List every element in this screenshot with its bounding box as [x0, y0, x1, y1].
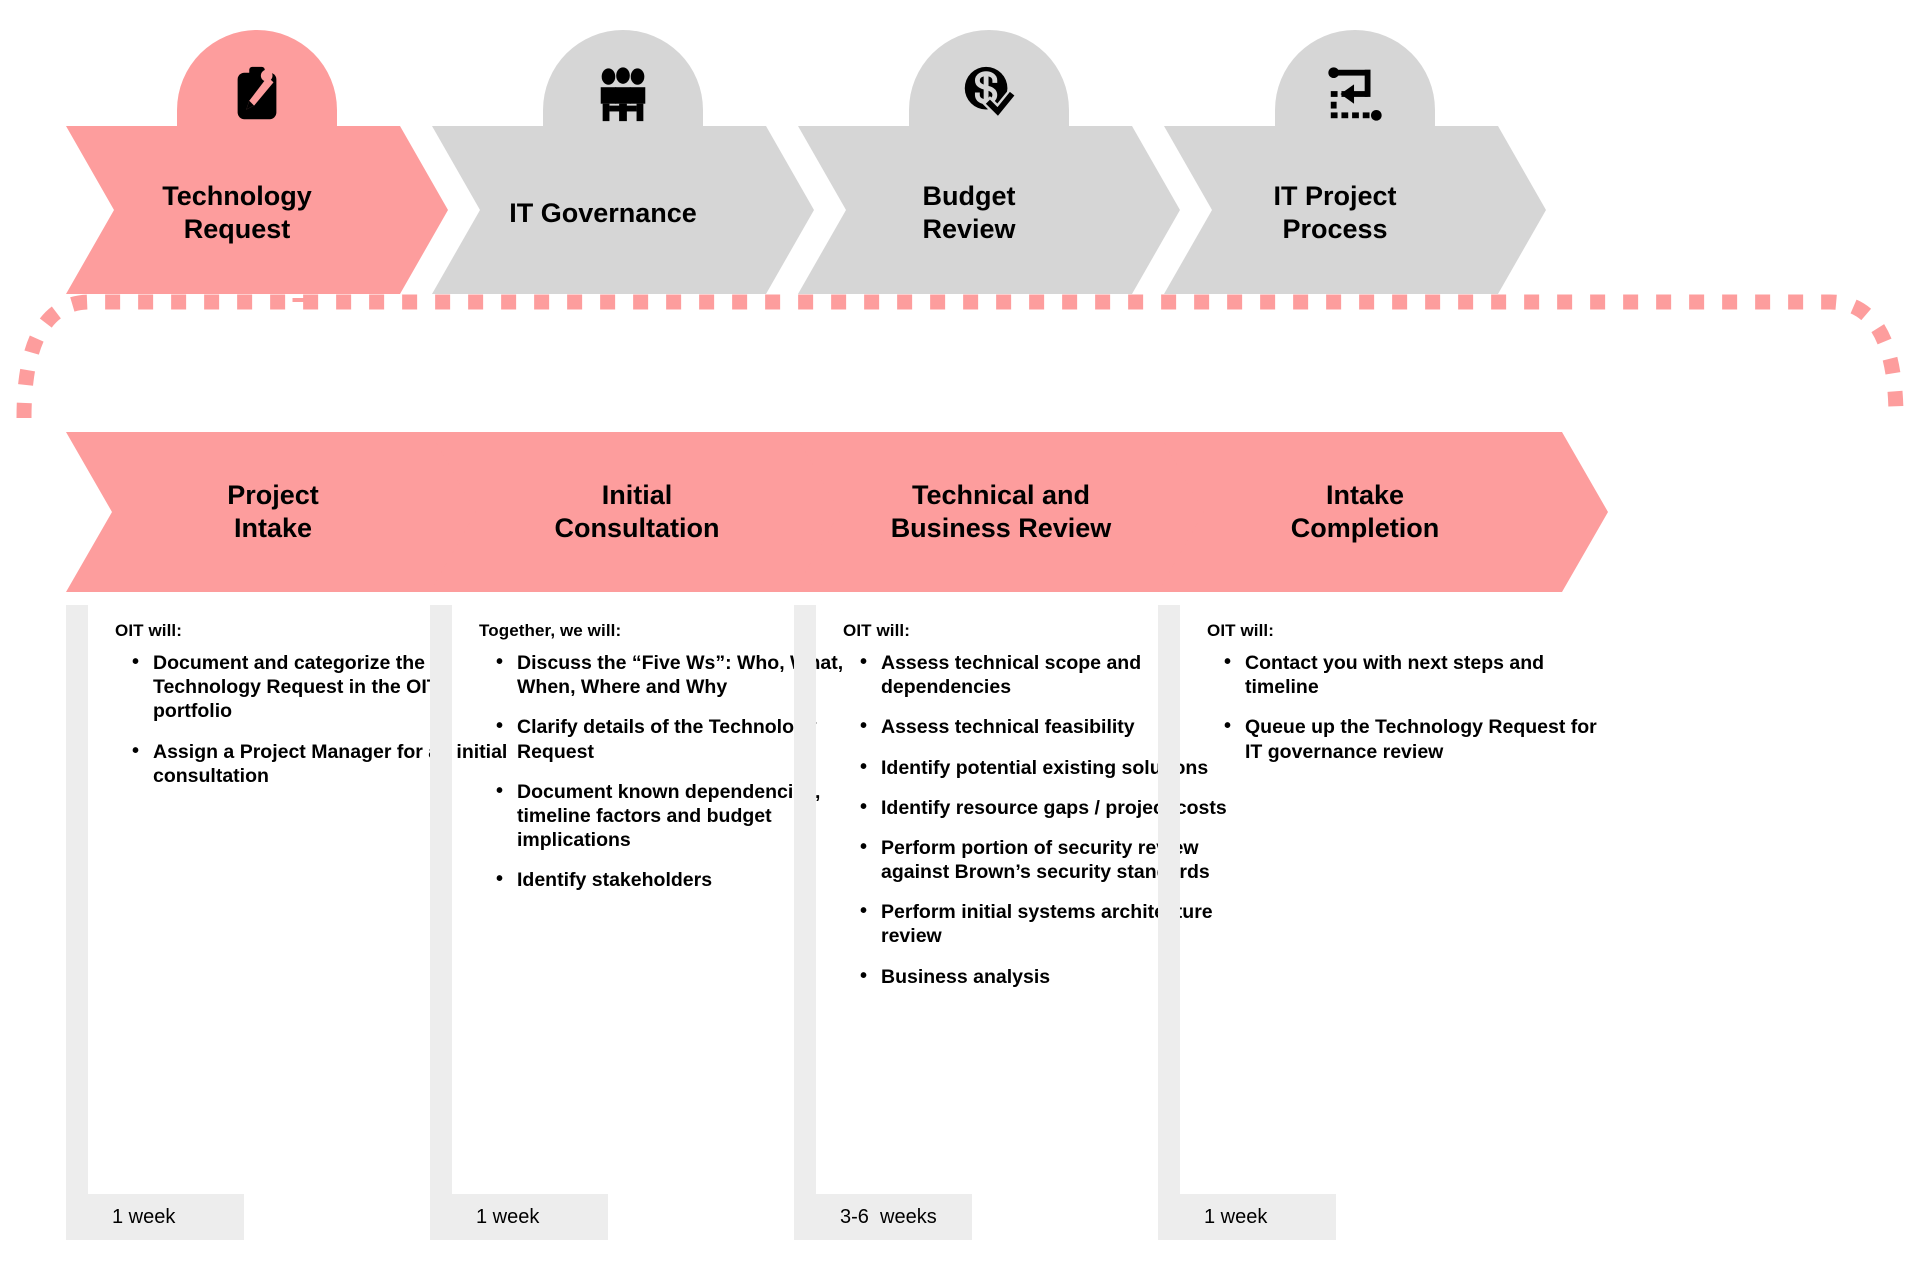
list-item: Contact you with next steps and timeline	[1224, 651, 1602, 699]
column-title-line1: Technical and	[912, 479, 1090, 512]
column-title-line1: Project	[227, 479, 319, 512]
stage-label-line1: Technology	[162, 180, 312, 213]
stage-label-line2: Review	[922, 213, 1015, 246]
top-stage-it-governance[interactable]: IT Governance	[432, 126, 814, 294]
stage-label: Budget Review	[798, 126, 1140, 294]
column-title-line2: Consultation	[555, 512, 720, 545]
stage-label-line2: Request	[184, 213, 291, 246]
stage-label: IT Project Process	[1164, 126, 1506, 294]
column-header-chevron[interactable]: Intake Completion	[1158, 432, 1608, 592]
process-flow-icon	[1321, 60, 1389, 128]
dollar-coin-check-icon	[955, 60, 1023, 128]
duration-badge: 1 week	[1158, 1194, 1336, 1240]
top-stage-it-project-process[interactable]: IT Project Process	[1164, 126, 1546, 294]
column-bullet-list: Contact you with next steps and timeline…	[1202, 651, 1608, 764]
clipboard-pencil-icon	[223, 60, 291, 128]
stage-label: IT Governance	[432, 126, 774, 294]
stage-label-line1: IT Project	[1273, 180, 1396, 213]
top-stage-technology-request[interactable]: Technology Request	[66, 126, 448, 294]
column-title-line1: Initial	[602, 479, 673, 512]
column-title-line2: Completion	[1291, 512, 1440, 545]
stage-label-line1: IT Governance	[509, 197, 697, 230]
duration-badge: 1 week	[430, 1194, 608, 1240]
column-title-line2: Intake	[234, 512, 312, 545]
process-flow-diagram: Technology Request	[0, 0, 1920, 1288]
duration-badge: 3-6 weeks	[794, 1194, 972, 1240]
column-title-line2: Business Review	[891, 512, 1112, 545]
bottom-detail-row: Project Intake OIT will: Document and ca…	[0, 432, 1920, 1288]
duration-badge: 1 week	[66, 1194, 244, 1240]
stage-label-line1: Budget	[923, 180, 1016, 213]
column-body: OIT will: Contact you with next steps an…	[1158, 605, 1608, 1215]
column-subhead: OIT will:	[1202, 605, 1608, 645]
stage-label: Technology Request	[66, 126, 408, 294]
detail-column-intake-completion[interactable]: Intake Completion OIT will: Contact you …	[1158, 432, 1608, 1215]
stage-label-line2: Process	[1282, 213, 1387, 246]
column-title-line1: Intake	[1326, 479, 1404, 512]
top-stage-budget-review[interactable]: Budget Review	[798, 126, 1180, 294]
people-group-icon	[589, 60, 657, 128]
list-item: Queue up the Technology Request for IT g…	[1224, 715, 1602, 763]
